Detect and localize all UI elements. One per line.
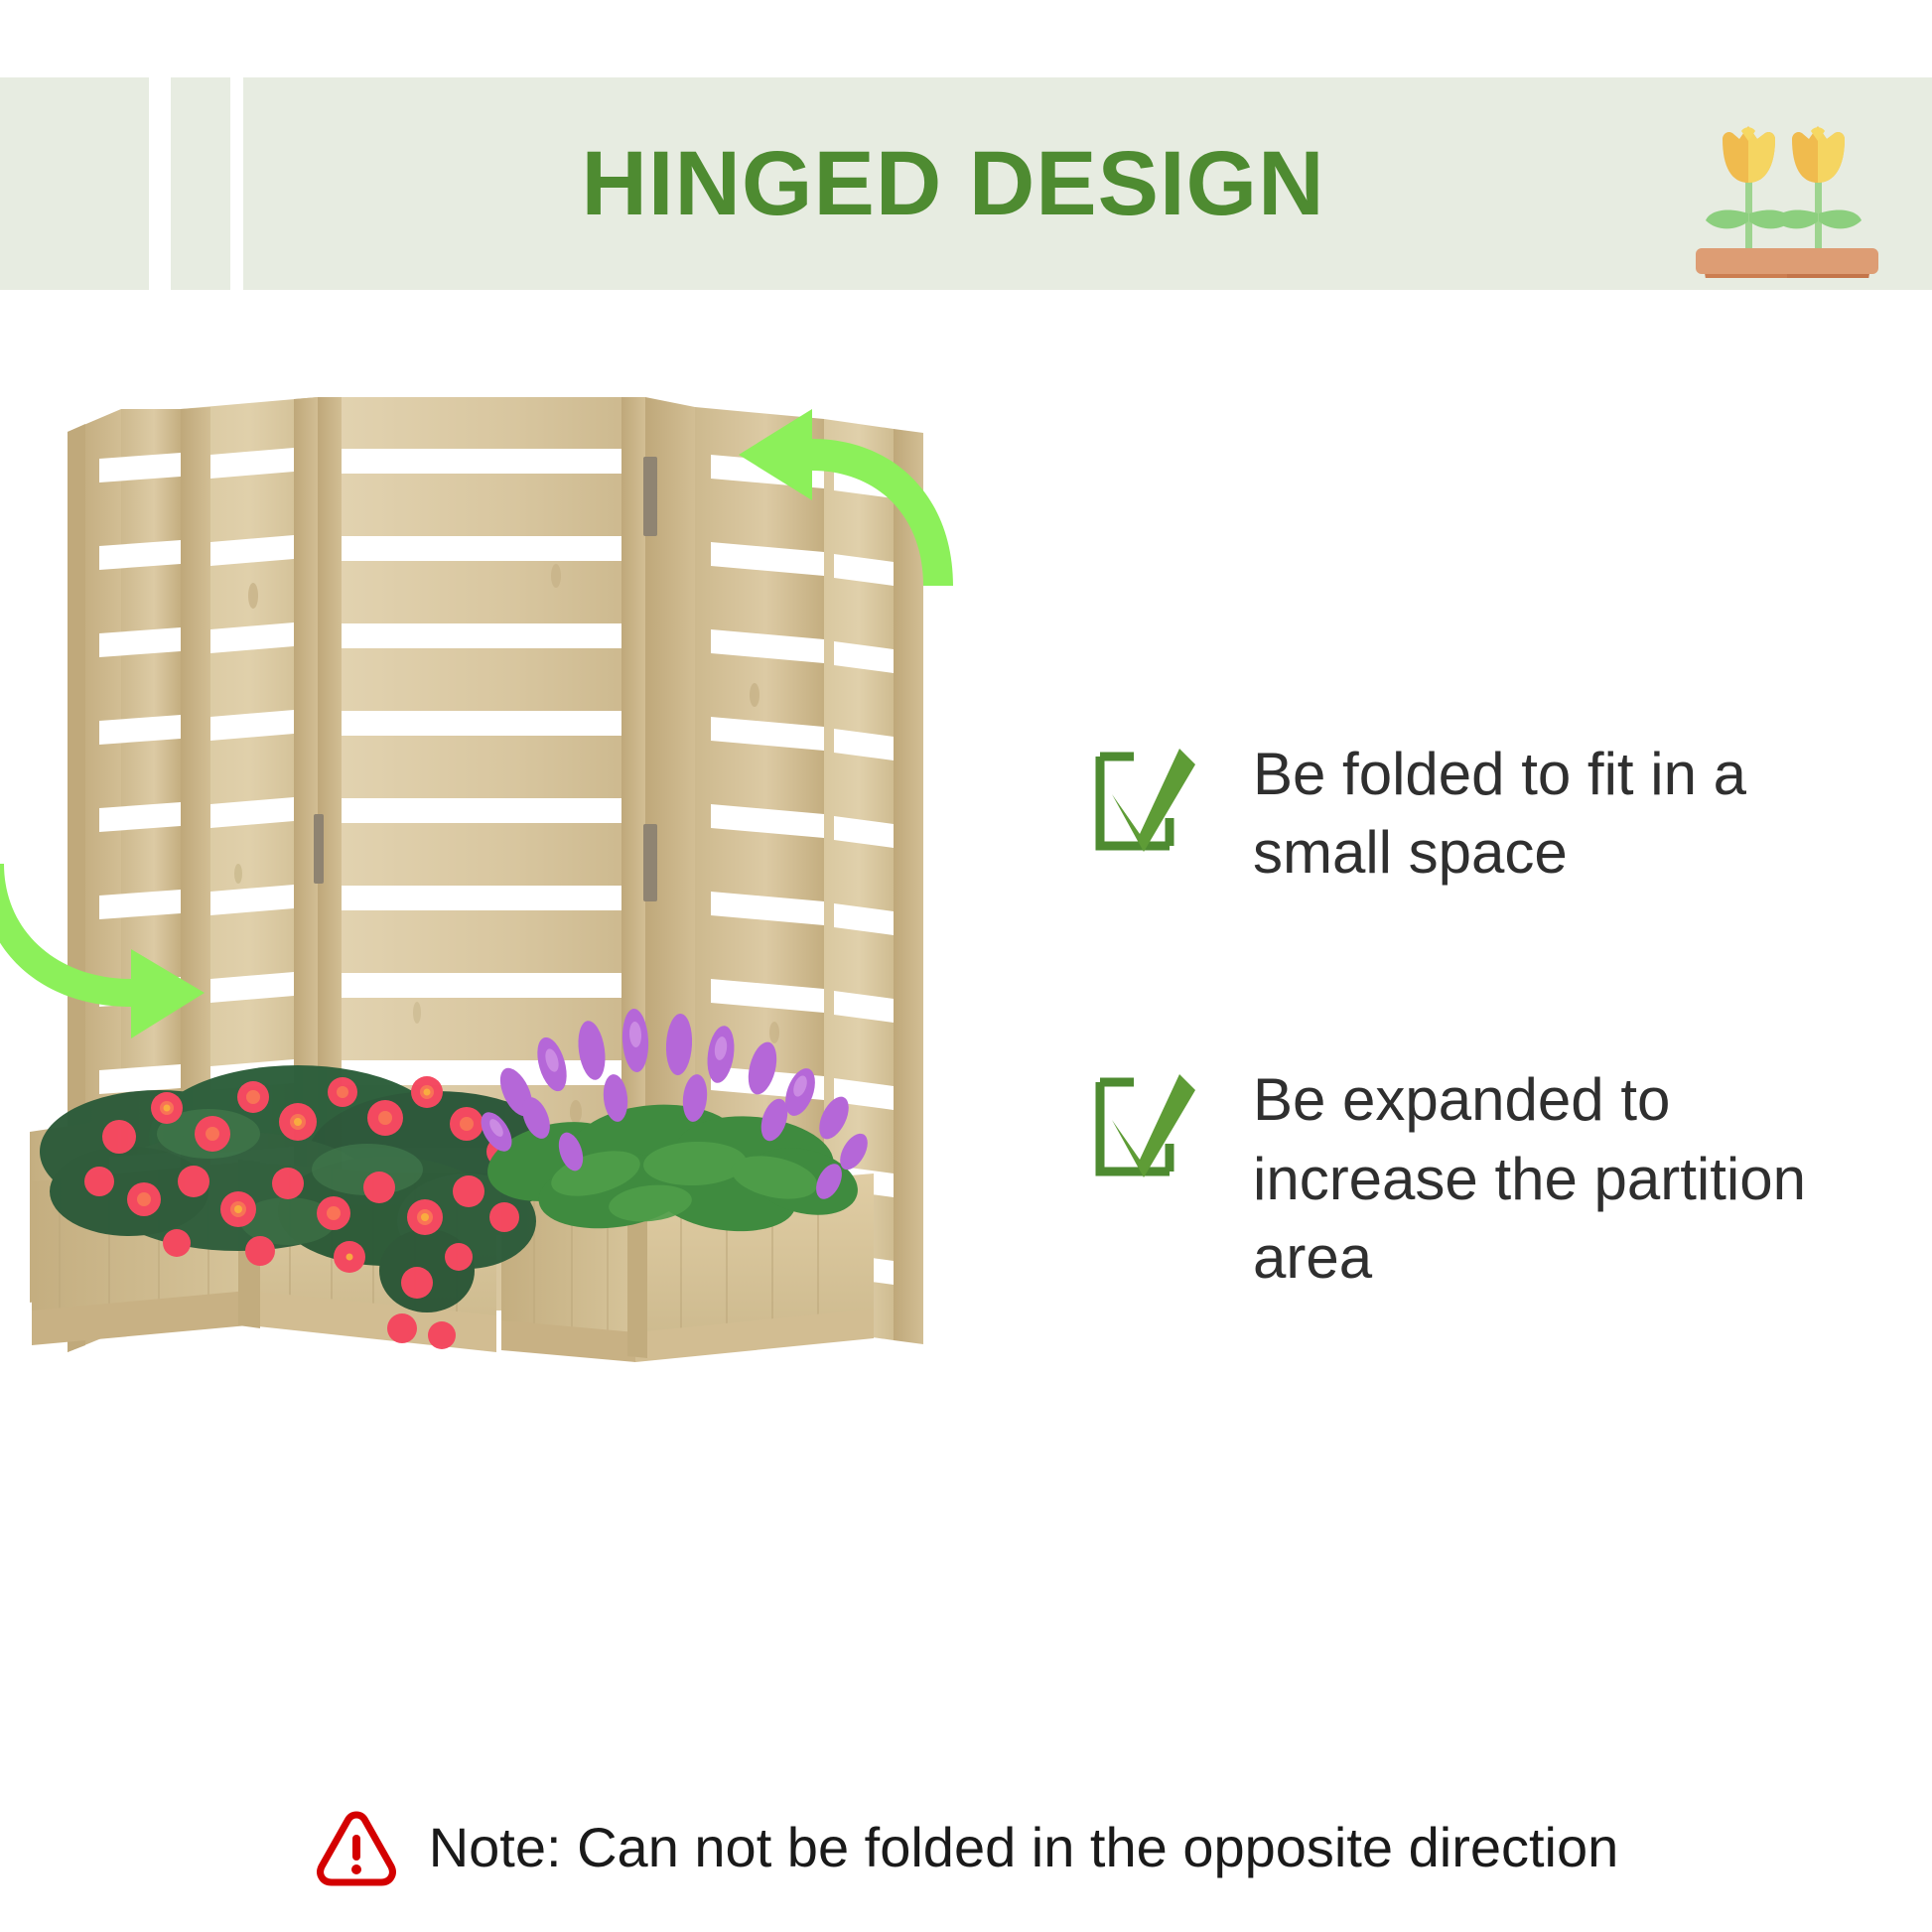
feature-label: Be expanded to increase the partition ar… bbox=[1253, 1060, 1868, 1297]
hinge-icon-left bbox=[314, 814, 324, 884]
header-band-segment-1 bbox=[0, 77, 149, 290]
note-label: Note: Can not be folded in the opposite … bbox=[429, 1817, 1619, 1878]
warning-triangle-icon bbox=[314, 1805, 399, 1890]
feature-item: Be expanded to increase the partition ar… bbox=[1092, 1060, 1886, 1297]
page-title: HINGED DESIGN bbox=[243, 77, 1663, 290]
checkbox-check-icon bbox=[1092, 1068, 1203, 1179]
feature-list: Be folded to fit in a small space Be exp… bbox=[1092, 735, 1886, 1465]
header-band-segment-2 bbox=[171, 77, 230, 290]
product-image bbox=[0, 397, 1052, 1787]
feature-label: Be folded to fit in a small space bbox=[1253, 735, 1868, 892]
checkbox-check-icon bbox=[1092, 743, 1203, 854]
note-row: Note: Can not be folded in the opposite … bbox=[0, 1805, 1932, 1890]
flower-pot-icon bbox=[1688, 79, 1886, 278]
feature-item: Be folded to fit in a small space bbox=[1092, 735, 1886, 892]
infographic-page: HINGED DESIGN bbox=[0, 0, 1932, 1932]
